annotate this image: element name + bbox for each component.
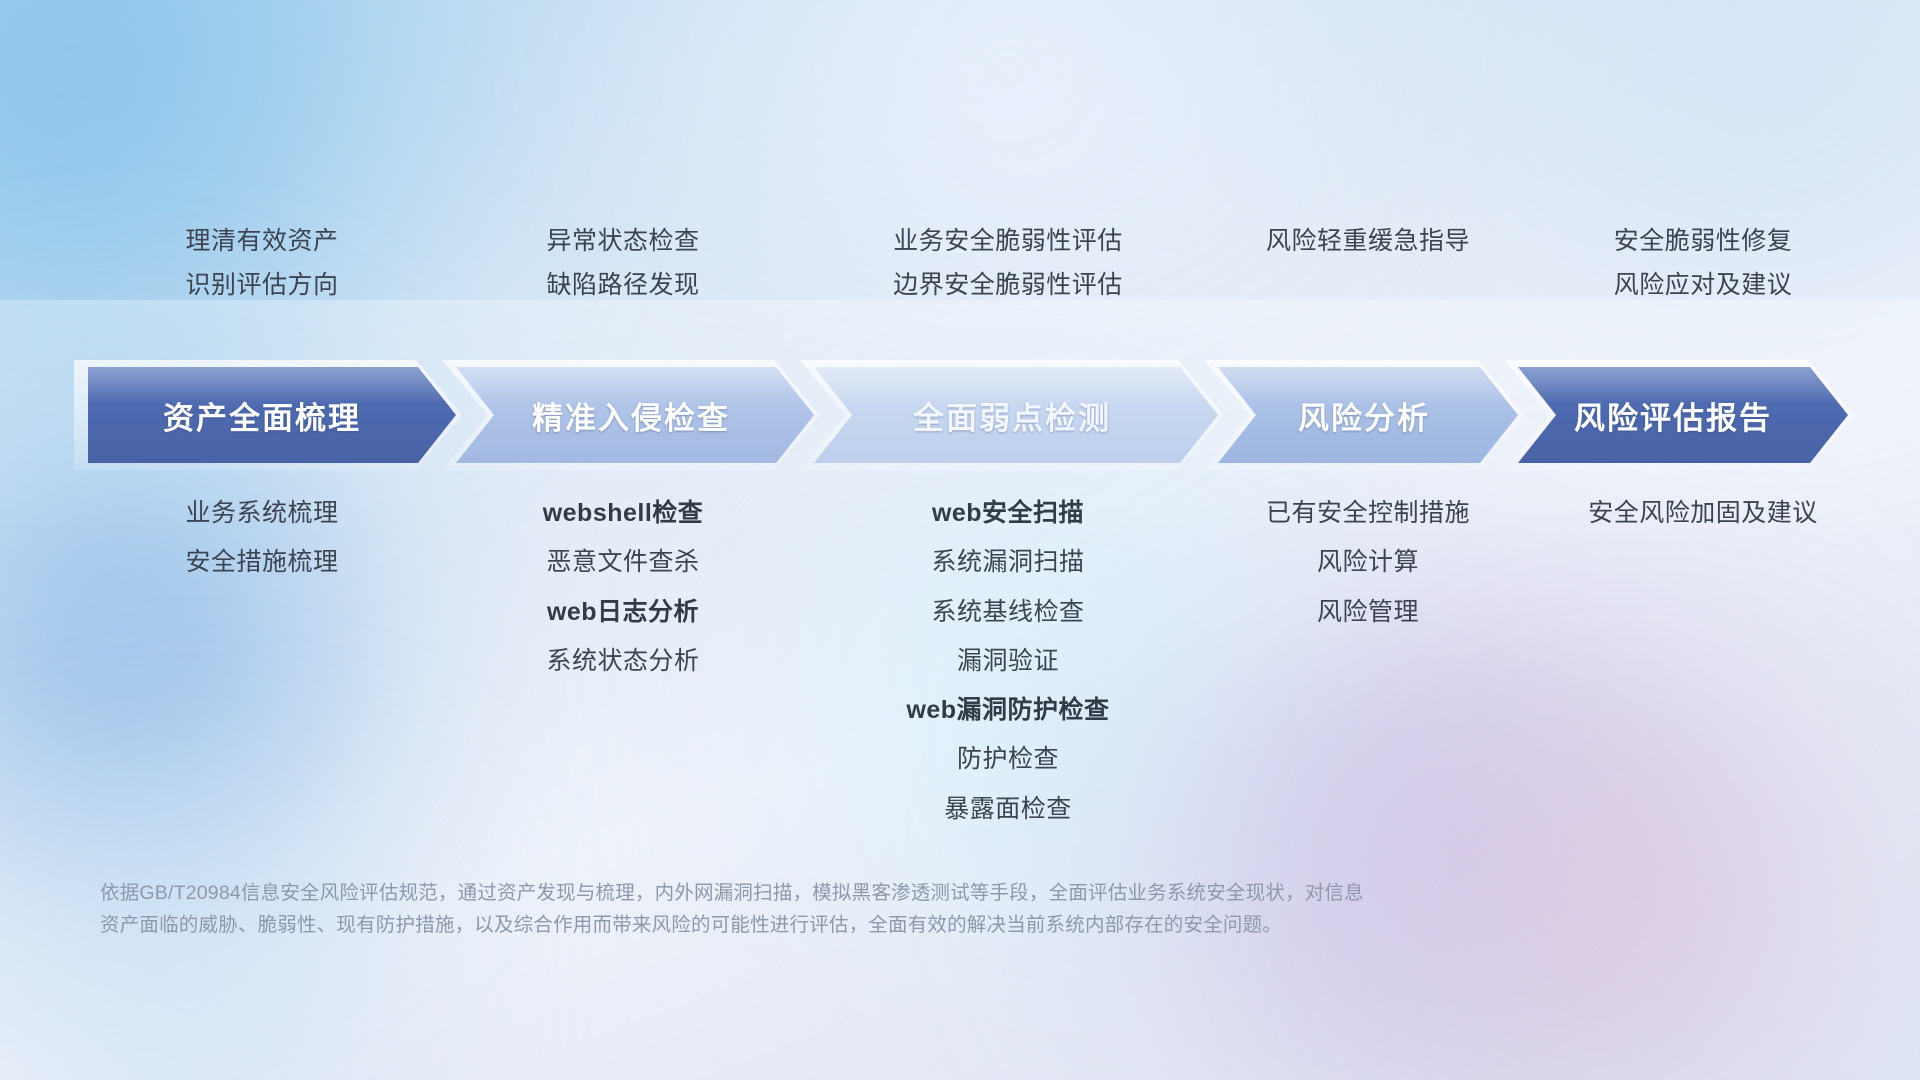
arrow-stage-risk-report[interactable]: 风险评估报告 [1518, 367, 1848, 463]
bottom-item: 安全风险加固及建议 [1588, 500, 1818, 526]
arrow-stage-intrusion-check[interactable]: 精准入侵检查 [456, 367, 814, 463]
footer-line-2: 资产面临的威胁、脆弱性、现有防护措施，以及综合作用而带来风险的可能性进行评估，全… [100, 910, 1620, 942]
bottom-item: web漏洞防护检查 [906, 697, 1109, 723]
top-item: 识别评估方向 [185, 272, 338, 298]
bottom-item: webshell检查 [543, 500, 704, 526]
bottom-item: 已有安全控制措施 [1266, 500, 1470, 526]
bottom-item: 风险计算 [1317, 549, 1419, 575]
bottom-column-intrusion-check: webshell检查恶意文件查杀web日志分析系统状态分析 [448, 500, 798, 822]
top-item: 安全脆弱性修复 [1614, 228, 1793, 254]
arrow-stage-weakness-detection[interactable]: 全面弱点检测 [814, 367, 1218, 463]
bottom-item: 系统状态分析 [546, 648, 699, 674]
stage-label-intrusion-check: 精准入侵检查 [532, 393, 730, 438]
top-item: 业务安全脆弱性评估 [893, 228, 1123, 254]
footer-line-1: 依据GB/T20984信息安全风险评估规范，通过资产发现与梳理，内外网漏洞扫描，… [100, 878, 1620, 910]
bottom-column-asset-sorting: 业务系统梳理安全措施梳理 [76, 500, 448, 822]
process-arrow-band: 资产全面梳理精准入侵检查全面弱点检测风险分析风险评估报告 [88, 367, 1848, 463]
arrow-stage-risk-analysis[interactable]: 风险分析 [1218, 367, 1518, 463]
stage-label-risk-report: 风险评估报告 [1574, 393, 1772, 438]
stage-label-weakness-detection: 全面弱点检测 [913, 393, 1111, 438]
bottom-item: 漏洞验证 [957, 648, 1059, 674]
arrow-stage-asset-sorting[interactable]: 资产全面梳理 [88, 367, 456, 463]
bottom-column-weakness-detection: web安全扫描系统漏洞扫描系统基线检查漏洞验证web漏洞防护检查防护检查暴露面检… [798, 500, 1218, 822]
stage-label-asset-sorting: 资产全面梳理 [163, 393, 361, 438]
top-item: 理清有效资产 [185, 228, 338, 254]
top-item: 边界安全脆弱性评估 [893, 272, 1123, 298]
top-column-risk-report: 安全脆弱性修复风险应对及建议 [1518, 228, 1888, 338]
bottom-item: 恶意文件查杀 [546, 549, 699, 575]
bottom-item: 系统基线检查 [931, 599, 1084, 625]
stage-label-risk-analysis: 风险分析 [1298, 393, 1430, 438]
top-item: 风险应对及建议 [1614, 272, 1793, 298]
bottom-item: 系统漏洞扫描 [931, 549, 1084, 575]
top-item: 风险轻重缓急指导 [1266, 228, 1470, 254]
process-diagram: 理清有效资产识别评估方向异常状态检查缺陷路径发现业务安全脆弱性评估边界安全脆弱性… [0, 0, 1920, 1080]
bottom-column-risk-report: 安全风险加固及建议 [1518, 500, 1888, 822]
top-labels-row: 理清有效资产识别评估方向异常状态检查缺陷路径发现业务安全脆弱性评估边界安全脆弱性… [0, 228, 1920, 338]
bottom-item: 风险管理 [1317, 599, 1419, 625]
top-column-risk-analysis: 风险轻重缓急指导 [1218, 228, 1518, 338]
bottom-item: 暴露面检查 [944, 796, 1072, 822]
bottom-item: web安全扫描 [932, 500, 1084, 526]
bottom-item: 防护检查 [957, 746, 1059, 772]
footer-description: 依据GB/T20984信息安全风险评估规范，通过资产发现与梳理，内外网漏洞扫描，… [100, 878, 1620, 941]
bottom-item: 安全措施梳理 [185, 549, 338, 575]
bottom-item: 业务系统梳理 [185, 500, 338, 526]
top-item: 异常状态检查 [546, 228, 699, 254]
top-column-weakness-detection: 业务安全脆弱性评估边界安全脆弱性评估 [798, 228, 1218, 338]
top-column-intrusion-check: 异常状态检查缺陷路径发现 [448, 228, 798, 338]
bottom-labels-row: 业务系统梳理安全措施梳理webshell检查恶意文件查杀web日志分析系统状态分… [0, 500, 1920, 822]
bottom-column-risk-analysis: 已有安全控制措施风险计算风险管理 [1218, 500, 1518, 822]
top-item: 缺陷路径发现 [546, 272, 699, 298]
bottom-item: web日志分析 [547, 599, 699, 625]
top-column-asset-sorting: 理清有效资产识别评估方向 [76, 228, 448, 338]
